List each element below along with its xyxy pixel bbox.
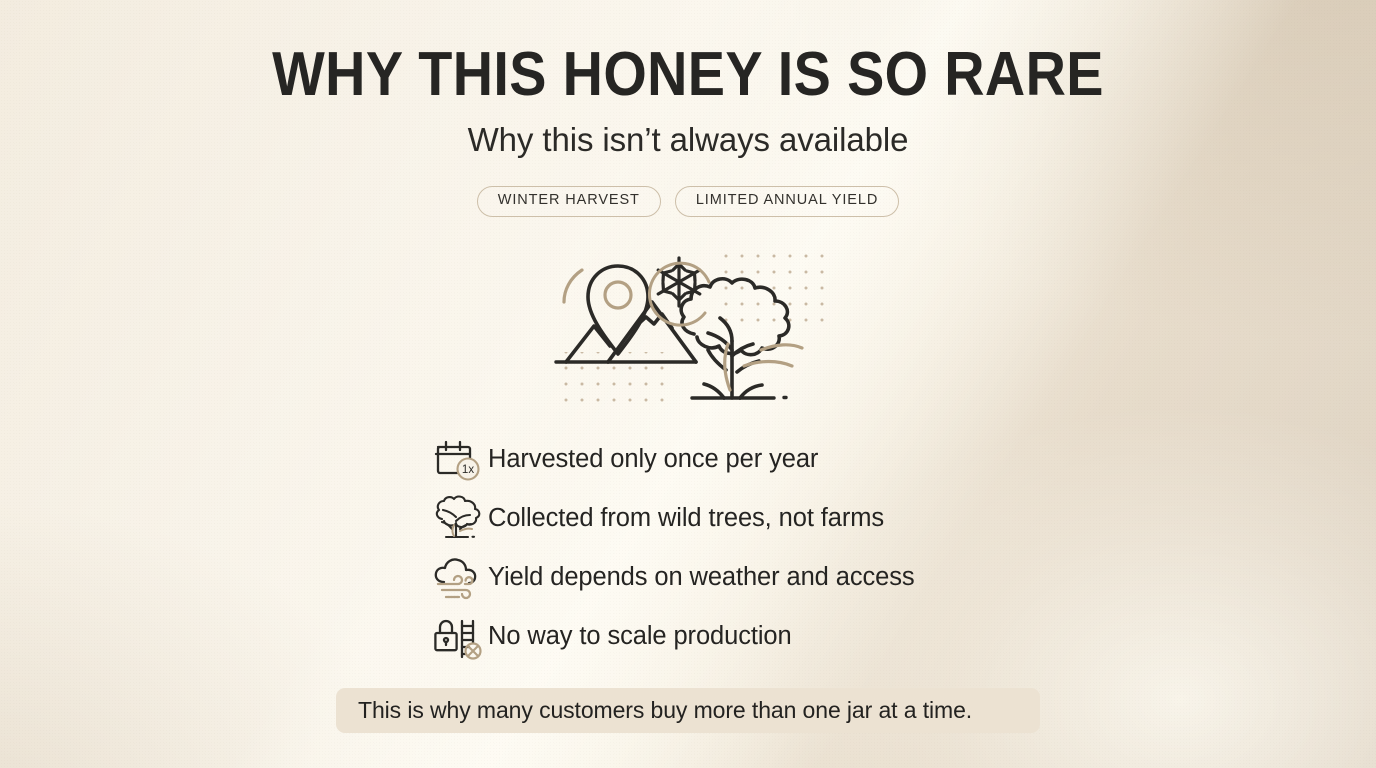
tree-wind-accent-1 — [744, 362, 792, 367]
feature-item-no-scale: No way to scale production — [432, 607, 992, 666]
wild-tree-icon — [432, 495, 488, 543]
feature-label-harvest-frequency: Harvested only once per year — [488, 445, 818, 473]
footer-callout: This is why many customers buy more than… — [336, 688, 1040, 733]
feature-list: 1x Harvested only once per year — [432, 430, 992, 666]
footer-callout-text: This is why many customers buy more than… — [358, 697, 972, 724]
badge-row: WINTER HARVEST LIMITED ANNUAL YIELD — [0, 186, 1376, 217]
lock-ladder-no-scale-icon — [432, 613, 488, 661]
page-subtitle: Why this isn’t always available — [0, 120, 1376, 160]
poster-content: WHY THIS HONEY IS SO RARE Why this isn’t… — [0, 0, 1376, 768]
dot-grid-top-right — [720, 250, 836, 322]
badge-winter-harvest[interactable]: WINTER HARVEST — [477, 186, 661, 217]
feature-item-weather-yield: Yield depends on weather and access — [432, 548, 992, 607]
feature-label-wild-trees: Collected from wild trees, not farms — [488, 504, 884, 532]
location-pin-icon — [588, 266, 648, 354]
feature-label-no-scale: No way to scale production — [488, 622, 792, 650]
poster-canvas: WHY THIS HONEY IS SO RARE Why this isn’t… — [0, 0, 1376, 768]
feature-item-wild-trees: Collected from wild trees, not farms — [432, 489, 992, 548]
pin-arc-accent — [564, 270, 582, 302]
cloud-wind-icon — [432, 554, 488, 602]
hero-illustration — [548, 238, 844, 418]
pin-inner-circle — [605, 282, 631, 308]
badge-limited-annual-yield[interactable]: LIMITED ANNUAL YIELD — [675, 186, 899, 217]
calendar-badge-text: 1x — [462, 464, 474, 476]
feature-item-harvest-frequency: 1x Harvested only once per year — [432, 430, 992, 489]
calendar-once-per-year-icon: 1x — [432, 436, 488, 484]
page-title: WHY THIS HONEY IS SO RARE — [69, 44, 1307, 106]
tree-trunk-accent — [725, 344, 730, 390]
feature-label-weather-yield: Yield depends on weather and access — [488, 563, 915, 591]
tree-wind-accent-2 — [761, 345, 802, 350]
